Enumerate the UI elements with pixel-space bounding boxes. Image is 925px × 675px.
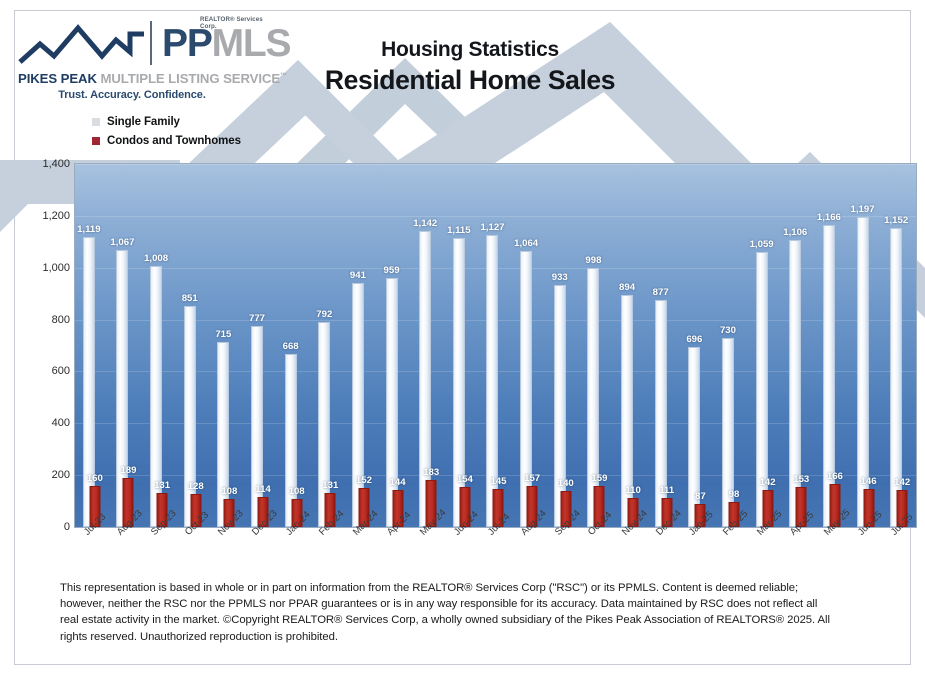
bar-group: 941152 [344,164,378,527]
bar-group: 1,064157 [512,164,546,527]
logo-subtitle-bold: PIKES PEAK [18,71,97,86]
disclaimer-text: This representation is based in whole or… [60,580,890,645]
bar-value-label-single-family: 894 [619,282,635,293]
bar-value-label-single-family: 1,115 [447,225,470,236]
chart-subtitle: Housing Statistics [300,38,640,62]
bar-value-label-condos: 152 [356,475,372,486]
bar-value-label-condos: 87 [695,491,706,502]
bar-group: 1,115154 [445,164,479,527]
bar-value-label-single-family: 1,106 [783,227,807,238]
bar-value-label-condos: 145 [490,476,506,487]
bar-value-label-condos: 166 [827,471,843,482]
y-axis: 02004006008001,0001,2001,400 [22,163,70,528]
disclaimer-line-1: This representation is based in whole or… [60,580,890,596]
bar-value-label-condos: 157 [524,473,540,484]
bar-value-label-single-family: 1,197 [851,204,875,215]
bar-group: 851128 [176,164,210,527]
bar-value-label-single-family: 941 [350,270,366,281]
bar-group: 1,119160 [75,164,109,527]
logo-mls: MLS [212,22,291,65]
x-axis: Jul-23Aug-23Sep-23Oct-23Nov-23Dec-23Jan-… [74,530,917,578]
y-axis-tick-label: 1,000 [22,262,70,274]
bar-group: 894110 [613,164,647,527]
bar-group: 1,197146 [849,164,883,527]
bar-group: 1,059142 [748,164,782,527]
bar-value-label-condos: 131 [154,480,170,491]
legend-item-single-family: Single Family [92,112,241,131]
legend-item-condos: Condos and Townhomes [92,131,241,150]
bar-value-label-condos: 153 [793,474,809,485]
bar-value-label-condos: 110 [625,485,640,496]
bar-value-label-single-family: 1,166 [817,212,841,223]
bar-value-label-single-family: 777 [249,313,265,324]
bar-value-label-condos: 140 [558,478,574,489]
chart-legend: Single Family Condos and Townhomes [92,112,241,150]
bar-value-label-condos: 111 [659,485,674,496]
bar-value-label-single-family: 792 [316,309,332,320]
bar-value-label-single-family: 1,067 [110,237,134,248]
y-axis-tick-label: 1,400 [22,158,70,170]
disclaimer-line-2: however, neither the RSC nor the PPMLS n… [60,596,890,612]
bar-value-label-single-family: 877 [653,287,669,298]
bar-group: 1,142183 [411,164,445,527]
chart-title: Residential Home Sales [300,65,640,96]
logo-pp: PP [162,22,212,65]
bar-value-label-single-family: 933 [552,272,568,283]
bar-group: 998159 [580,164,614,527]
bars-container: 1,1191601,0671891,0081318511287151087771… [75,164,916,527]
bar-value-label-condos: 183 [423,467,439,478]
bar-group: 69687 [681,164,715,527]
y-axis-tick-label: 0 [22,521,70,533]
bar-group: 1,008131 [142,164,176,527]
bar-group: 668108 [277,164,311,527]
housing-statistics-chart-page: REALTOR® Services Corp. PPMLS PIKES PEAK… [0,0,925,675]
bar-value-label-condos: 114 [255,484,270,495]
logo-tagline: Trust. Accuracy. Confidence. [18,89,268,101]
bar-value-label-single-family: 998 [585,255,601,266]
bar-value-label-single-family: 696 [686,334,702,345]
bar-value-label-single-family: 668 [283,341,299,352]
bar-value-label-single-family: 1,008 [144,253,168,264]
bar-group: 73098 [714,164,748,527]
disclaimer-line-3: real estate activity in the market. ©Cop… [60,612,890,628]
legend-swatch-single-family [92,118,100,126]
mountain-logo-icon [18,22,146,66]
bar-value-label-single-family: 851 [182,293,198,304]
bar-group: 959144 [378,164,412,527]
bar-group: 1,127145 [479,164,513,527]
bar-value-label-single-family: 1,142 [413,218,437,229]
legend-swatch-condos [92,137,100,145]
chart-title-block: Housing Statistics Residential Home Sale… [300,38,640,96]
bar-value-label-condos: 144 [390,477,406,488]
bar-group: 1,166166 [815,164,849,527]
bar-value-label-single-family: 1,152 [884,215,908,226]
logo-ppmls-wordmark: PPMLS [162,24,290,64]
bar-value-label-condos: 160 [87,473,103,484]
bar-value-label-condos: 154 [457,474,473,485]
y-axis-tick-label: 1,200 [22,210,70,222]
bar-value-label-condos: 98 [729,489,740,500]
ppmls-logo: REALTOR® Services Corp. PPMLS PIKES PEAK… [18,14,268,101]
bar-value-label-condos: 128 [188,481,204,492]
bar-value-label-condos: 159 [591,473,607,484]
disclaimer-line-4: rights reserved. Unauthorized reproducti… [60,629,890,645]
logo-divider [150,21,152,65]
bar-group: 1,152142 [882,164,916,527]
logo-subtitle-rest: MULTIPLE LISTING SERVICE [100,71,280,86]
bar-value-label-condos: 108 [289,486,305,497]
bar-value-label-condos: 146 [861,476,877,487]
bar-value-label-condos: 189 [120,465,136,476]
y-axis-tick-label: 400 [22,417,70,429]
bar-group: 877111 [647,164,681,527]
bar-value-label-single-family: 959 [384,265,400,276]
bar-value-label-condos: 131 [322,480,338,491]
y-axis-tick-label: 200 [22,469,70,481]
bar-group: 792131 [310,164,344,527]
legend-label-condos: Condos and Townhomes [107,135,241,147]
bar-group: 777114 [243,164,277,527]
bar-value-label-condos: 142 [894,477,910,488]
bar-value-label-single-family: 715 [215,329,231,340]
bar-value-label-single-family: 1,059 [750,239,774,250]
plot-area: 1,1191601,0671891,0081318511287151087771… [74,163,917,528]
y-axis-tick-label: 800 [22,314,70,326]
trademark-mark: ™ [280,73,287,80]
y-axis-tick-label: 600 [22,365,70,377]
bar-value-label-single-family: 1,127 [480,222,504,233]
bar-value-label-condos: 108 [221,486,237,497]
bar-group: 1,067189 [109,164,143,527]
bar-group: 715108 [210,164,244,527]
bar-group: 1,106153 [781,164,815,527]
bar-value-label-condos: 142 [760,477,776,488]
legend-label-single-family: Single Family [107,116,180,128]
logo-subtitle: PIKES PEAK MULTIPLE LISTING SERVICE™ [18,71,268,86]
bar-value-label-single-family: 1,064 [514,238,538,249]
bar-value-label-single-family: 1,119 [77,224,100,235]
bar-group: 933140 [546,164,580,527]
bar-value-label-single-family: 730 [720,325,736,336]
